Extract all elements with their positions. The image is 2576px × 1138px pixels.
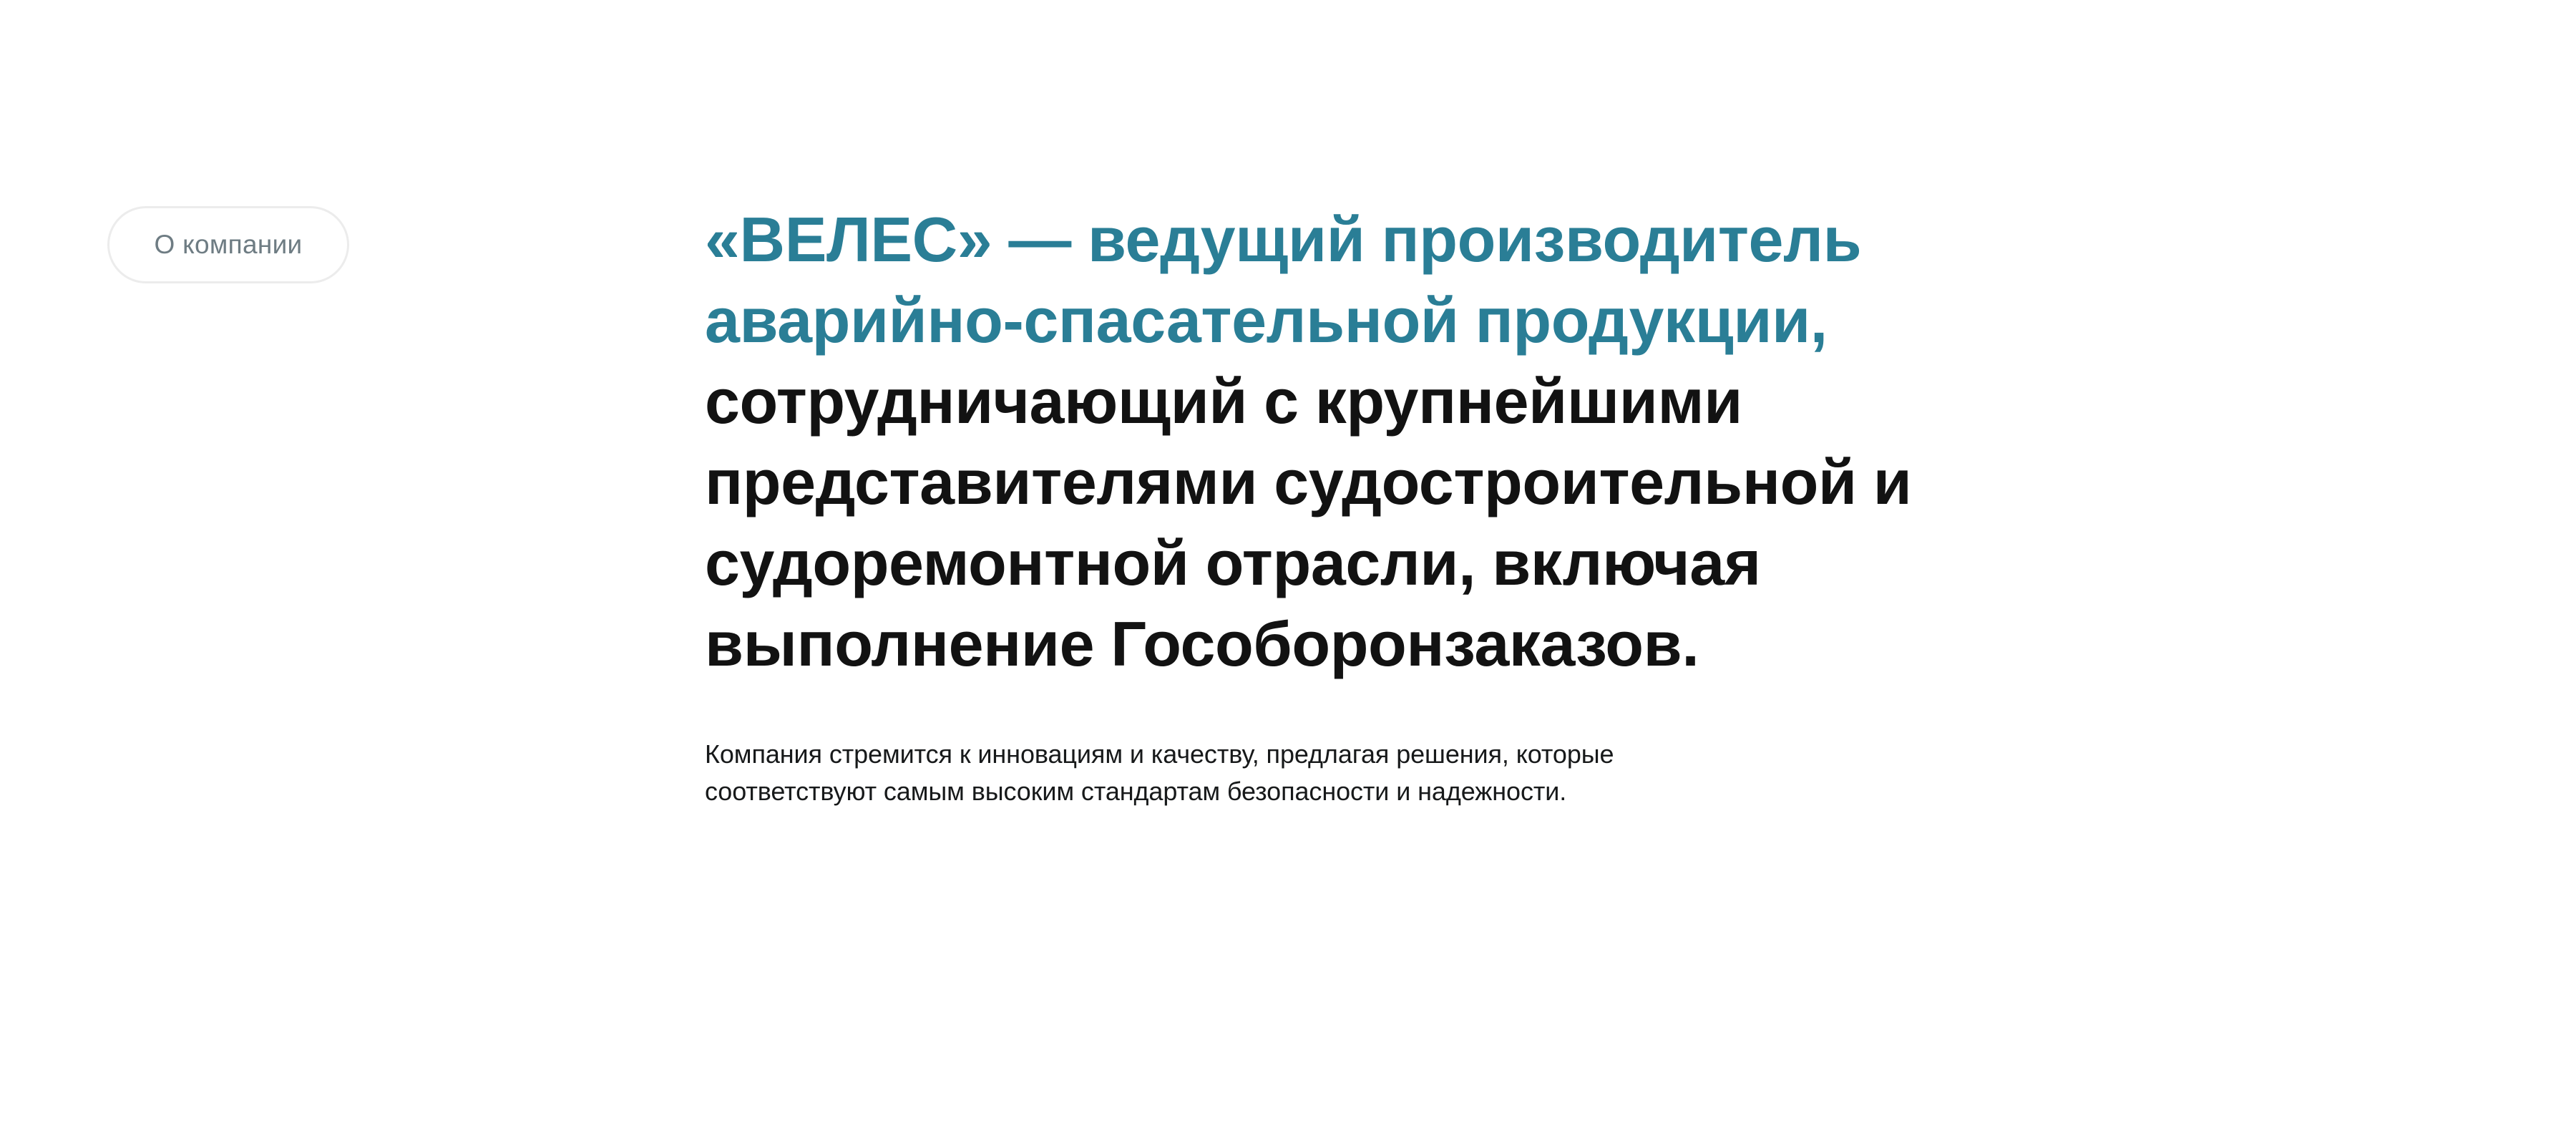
headline-accent-comma: , bbox=[1810, 285, 1828, 356]
section-badge-about-company[interactable]: О компании bbox=[107, 206, 349, 283]
page-title: «ВЕЛЕС» — ведущий производитель аварийно… bbox=[705, 199, 1993, 684]
headline-dark-text: сотрудничающий с крупнейшими представите… bbox=[705, 366, 1911, 679]
about-company-section: О компании «ВЕЛЕС» — ведущий производите… bbox=[0, 0, 2576, 1138]
section-badge-label: О компании bbox=[154, 230, 302, 260]
headline-accent-text: «ВЕЛЕС» — ведущий производитель аварийно… bbox=[705, 204, 1861, 356]
about-subtitle: Компания стремится к инновациям и качест… bbox=[705, 736, 1707, 810]
about-content-column: «ВЕЛЕС» — ведущий производитель аварийно… bbox=[705, 199, 2007, 684]
